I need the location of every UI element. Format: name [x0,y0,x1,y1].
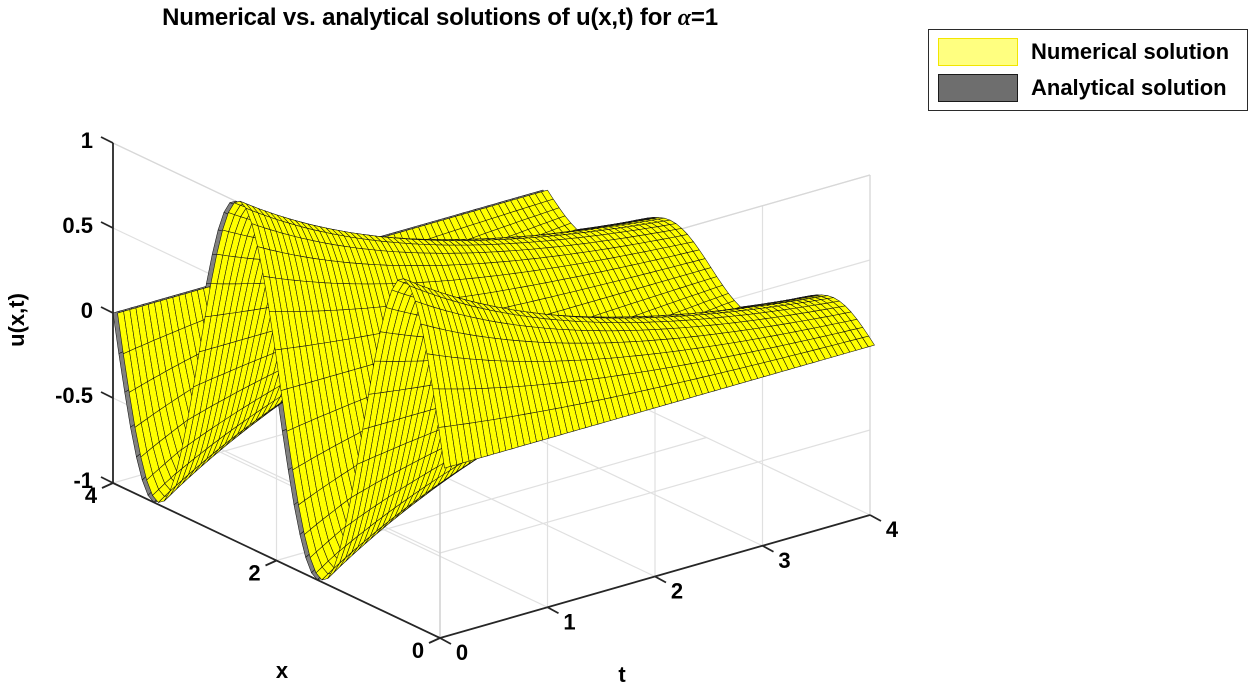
surface-numerical-solution [118,190,875,580]
figure-root: Numerical vs. analytical solutions of u(… [0,0,1256,694]
